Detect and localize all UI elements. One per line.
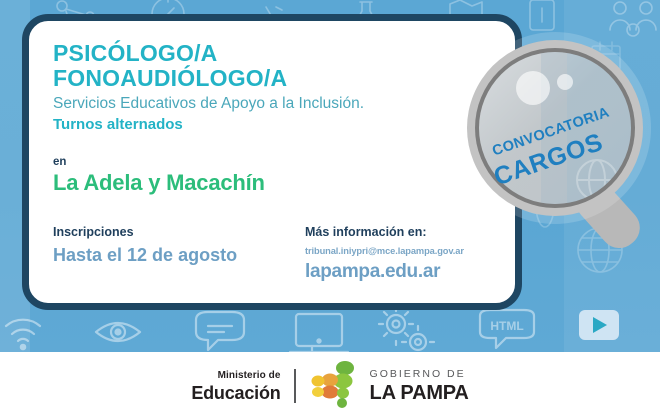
details-columns: Inscripciones Hasta el 12 de agosto Más …: [53, 224, 491, 284]
job-subtitle: Servicios Educativos de Apoyo a la Inclu…: [53, 94, 491, 114]
html-code-icon: HTML: [480, 310, 534, 348]
poster-root: HTML PSICÓLOGO/A FONOAUDIÓLOGO/A Servici…: [0, 0, 660, 420]
lapampa-dots-icon: [309, 361, 361, 411]
gears-icon: [379, 307, 434, 352]
chat-bubble-icon: [196, 312, 244, 350]
enrollment-column: Inscripciones Hasta el 12 de agosto: [53, 224, 305, 284]
government-top-label: GOBIERNO DE: [370, 369, 469, 380]
shift-note: Turnos alternados: [53, 115, 491, 134]
magnifier-badge: [455, 28, 660, 260]
ministry-top-label: Ministerio de: [191, 371, 280, 381]
footer-divider: [294, 369, 296, 403]
ministry-logo: Ministerio de Educación: [191, 371, 280, 402]
wifi-icon: [6, 320, 40, 350]
ministry-name: Educación: [191, 384, 280, 402]
government-name: LA PAMPA: [370, 383, 469, 403]
monitor-icon: [290, 314, 348, 352]
eye-icon: [96, 323, 140, 341]
enrollment-label: Inscripciones: [53, 224, 305, 240]
footer: Ministerio de Educación GOBIERNO DE: [0, 352, 660, 420]
location-value: La Adela y Macachín: [53, 170, 491, 196]
book-icon: [530, 0, 554, 30]
location-label: en: [53, 156, 491, 169]
info-website[interactable]: lapampa.edu.ar: [305, 260, 491, 284]
job-title-line-2: FONOAUDIÓLOGO/A: [53, 66, 491, 91]
government-logo: GOBIERNO DE LA PAMPA: [309, 361, 469, 411]
job-title-line-1: PSICÓLOGO/A: [53, 41, 491, 66]
enrollment-deadline: Hasta el 12 de agosto: [53, 243, 305, 267]
play-triangle-icon: [593, 317, 607, 333]
svg-text:HTML: HTML: [490, 319, 523, 333]
play-button[interactable]: [579, 310, 619, 340]
announcement-card: PSICÓLOGO/A FONOAUDIÓLOGO/A Servicios Ed…: [22, 14, 522, 310]
magnifier-glass: [479, 52, 631, 204]
